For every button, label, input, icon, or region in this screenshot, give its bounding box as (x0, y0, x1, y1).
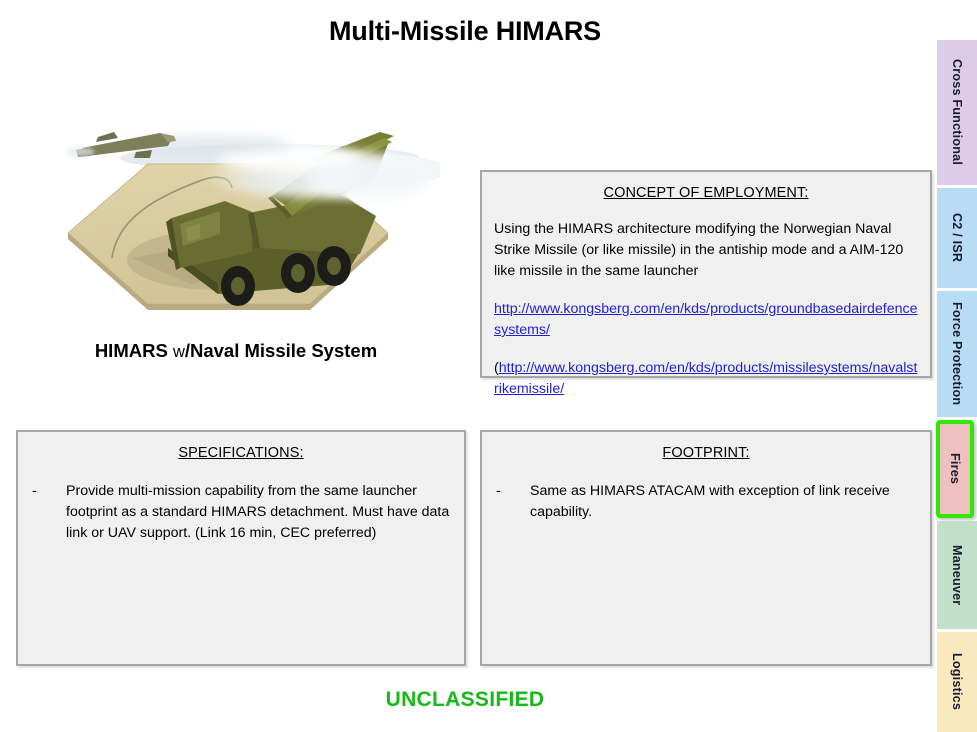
bullet-dash-icon: - (496, 481, 530, 523)
himars-rendering-svg (40, 108, 440, 323)
sidebar-tab-label: Fires (948, 453, 962, 484)
concept-of-employment-body: Using the HIMARS architecture modifying … (482, 219, 930, 400)
caption-part-2: /Naval Missile System (185, 340, 377, 361)
concept-link-2-row: (http://www.kongsberg.com/en/kds/product… (494, 358, 918, 400)
kongsberg-naval-strike-missile-link[interactable]: http://www.kongsberg.com/en/kds/products… (494, 360, 917, 397)
bullet-dash-icon: - (32, 481, 66, 544)
specifications-box: SPECIFICATIONS: - Provide multi-mission … (16, 430, 466, 666)
sidebar-tab-maneuver[interactable]: Maneuver (937, 521, 977, 629)
page-title: Multi-Missile HIMARS (0, 16, 930, 47)
footprint-bullet-text: Same as HIMARS ATACAM with exception of … (530, 481, 916, 523)
sidebar-tab-cross-functional[interactable]: Cross Functional (937, 40, 977, 185)
kongsberg-gbad-link[interactable]: http://www.kongsberg.com/en/kds/products… (494, 301, 918, 338)
specifications-body: - Provide multi-mission capability from … (18, 481, 464, 544)
footprint-box: FOOTPRINT: - Same as HIMARS ATACAM with … (480, 430, 932, 666)
caption-part-1: HIMARS (95, 340, 173, 361)
footprint-body: - Same as HIMARS ATACAM with exception o… (482, 481, 930, 523)
list-item: - Provide multi-mission capability from … (32, 481, 450, 544)
sidebar-tab-force-protection[interactable]: Force Protection (937, 291, 977, 417)
concept-link-1-row: http://www.kongsberg.com/en/kds/products… (494, 299, 918, 341)
concept-of-employment-title: CONCEPT OF EMPLOYMENT: (482, 185, 930, 201)
graphic-caption: HIMARS w/Naval Missile System (16, 340, 456, 362)
sidebar-tab-logistics[interactable]: Logistics (937, 632, 977, 732)
sidebar-tab-label: Force Protection (950, 302, 964, 405)
classification-banner: UNCLASSIFIED (0, 688, 930, 712)
concept-of-employment-box: CONCEPT OF EMPLOYMENT: Using the HIMARS … (480, 170, 932, 378)
sidebar-tab-label: Logistics (950, 653, 964, 710)
sidebar-tab-label: Cross Functional (950, 59, 964, 165)
sidebar-tab-label: Maneuver (950, 545, 964, 605)
himars-launcher-rendering (40, 108, 440, 323)
sidebar-tab-c2-isr[interactable]: C2 / ISR (937, 188, 977, 288)
caption-part-light: w (173, 343, 185, 361)
sidebar-tab-label: C2 / ISR (950, 213, 964, 262)
footprint-title: FOOTPRINT: (482, 445, 930, 461)
concept-paragraph: Using the HIMARS architecture modifying … (494, 219, 918, 282)
specifications-bullet-text: Provide multi-mission capability from th… (66, 481, 450, 544)
sidebar-tab-fires[interactable]: Fires (936, 420, 974, 518)
category-tab-rail: Cross FunctionalC2 / ISRForce Protection… (932, 0, 977, 732)
list-item: - Same as HIMARS ATACAM with exception o… (496, 481, 916, 523)
specifications-title: SPECIFICATIONS: (18, 445, 464, 461)
